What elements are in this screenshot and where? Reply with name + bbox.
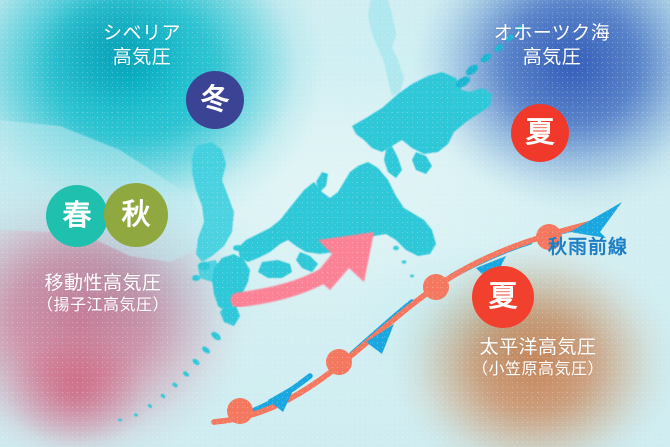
siberia-name-sub: 高気圧	[52, 46, 232, 70]
korea-land	[192, 142, 234, 262]
okhotsk-name-sub: 高気圧	[452, 46, 652, 70]
shikoku-land	[258, 260, 292, 278]
climate-diagram: シベリア 高気圧 オホーツク海 高気圧 移動性高気圧 （揚子江高気圧） 太平洋高…	[0, 0, 670, 447]
sakhalin-land-lower	[394, 92, 420, 128]
sakhalin-land	[368, 0, 404, 96]
label-migratory-high: 移動性高気圧 （揚子江高気圧）	[0, 272, 208, 317]
front-line-cold-1	[250, 376, 310, 412]
hokkaido-land	[352, 72, 492, 154]
monsoon-arrow-head	[314, 232, 374, 290]
izu-islets	[393, 246, 414, 278]
label-pacific-high: 太平洋高気圧 （小笠原高気圧）	[418, 336, 658, 381]
cold-front-symbols	[268, 256, 506, 412]
label-okhotsk-high: オホーツク海 高気圧	[452, 22, 652, 71]
pacific-name-sub: （小笠原高気圧）	[418, 360, 658, 380]
siberia-name-main: シベリア	[52, 22, 232, 46]
migratory-name-sub: （揚子江高気圧）	[0, 296, 208, 316]
label-autumn-rain-front: 秋雨前線	[548, 232, 628, 259]
honshu-kii	[296, 252, 318, 272]
migratory-high-blob-core	[0, 330, 170, 447]
pacific-name-main: 太平洋高気圧	[418, 336, 658, 360]
season-badge-winter: 冬	[186, 71, 244, 129]
continent-edge	[0, 120, 206, 262]
monsoon-arrow-shaft	[238, 272, 330, 300]
front-line-warm-top	[214, 222, 596, 422]
season-badge-summer-okhotsk: 夏	[511, 104, 569, 162]
monsoon-arrow	[238, 232, 374, 300]
honshu-noto	[316, 172, 328, 192]
hokkaido-tail	[412, 152, 432, 174]
season-badge-autumn: 秋	[104, 183, 168, 247]
migratory-name-main: 移動性高気圧	[0, 272, 208, 296]
kyushu-land	[212, 254, 250, 312]
okhotsk-name-main: オホーツク海	[452, 22, 652, 46]
front-line-warm	[214, 222, 596, 422]
season-badge-summer-pacific: 夏	[472, 266, 534, 328]
ryukyu-islands	[118, 330, 222, 421]
honshu-land	[238, 162, 436, 262]
front-line-cold-2	[352, 302, 412, 354]
kyushu-south	[220, 306, 240, 326]
season-badge-spring: 春	[46, 185, 108, 247]
front-line-cold-4	[560, 220, 604, 232]
hokkaido-peninsula	[384, 146, 402, 178]
label-siberia-high: シベリア 高気圧	[52, 22, 232, 71]
